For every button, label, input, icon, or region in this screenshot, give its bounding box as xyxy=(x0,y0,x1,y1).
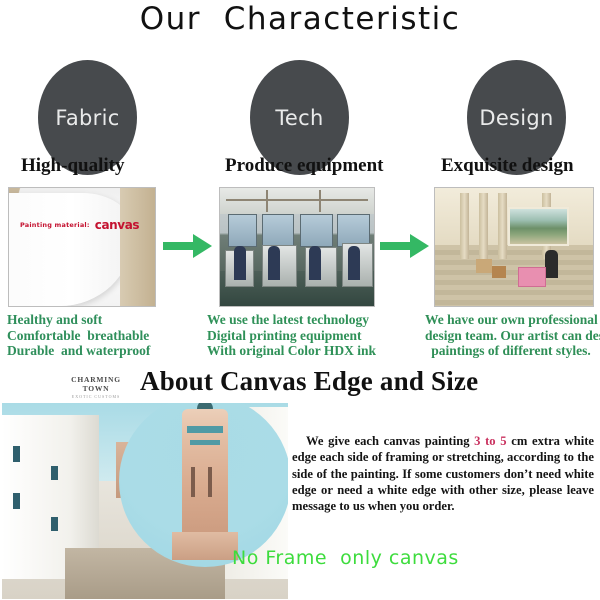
canvas-tag-big: canvas xyxy=(95,218,139,232)
caption-fabric: Healthy and soft Comfortable breathable … xyxy=(7,312,150,359)
page-title: Our Characteristic xyxy=(0,1,600,37)
step-sublabel-design: Exquisite design xyxy=(441,155,574,177)
watermark-brand-name: CHARMING TOWN xyxy=(58,375,134,393)
section-title-canvas-edge: About Canvas Edge and Size xyxy=(140,366,478,397)
canvas-roll-illustration xyxy=(9,188,155,306)
photo-printing-workshop xyxy=(219,187,375,307)
watermark-brand-tagline: EXOTIC CUSTOMS xyxy=(58,394,134,399)
brand-watermark: CHARMING TOWN EXOTIC CUSTOMS xyxy=(58,375,134,399)
canvas-edge-description: We give each canvas painting 3 to 5 cm e… xyxy=(292,433,594,514)
step-sublabel-fabric: High-quality xyxy=(21,155,124,177)
step-circle-label: Tech xyxy=(275,106,323,130)
description-highlight: 3 to 5 xyxy=(474,434,506,448)
canvas-tag-small: Painting material: xyxy=(20,221,90,229)
caption-tech: We use the latest technology Digital pri… xyxy=(207,312,376,359)
studio-illustration xyxy=(435,188,593,306)
canvas-material-tag: Painting material: canvas xyxy=(20,212,139,232)
product-description-banner: Our Characteristic Fabric Tech Design Hi… xyxy=(0,0,600,600)
photo-art-studio xyxy=(434,187,594,307)
no-frame-note: No Frame only canvas xyxy=(232,547,459,569)
step-circle-label: Fabric xyxy=(55,106,119,130)
arrow-right-icon xyxy=(163,231,213,261)
zoom-detail-circle xyxy=(119,403,288,567)
photo-canvas-edge-sample xyxy=(2,403,288,599)
caption-design: We have our own professional design team… xyxy=(425,312,597,359)
arrow-right-icon xyxy=(380,231,430,261)
workshop-illustration xyxy=(220,188,374,306)
photo-canvas-material: Painting material: canvas xyxy=(8,187,156,307)
description-part-1: We give each canvas painting xyxy=(306,434,474,448)
step-circle-label: Design xyxy=(479,106,553,130)
step-sublabel-tech: Produce equipment xyxy=(225,155,384,177)
